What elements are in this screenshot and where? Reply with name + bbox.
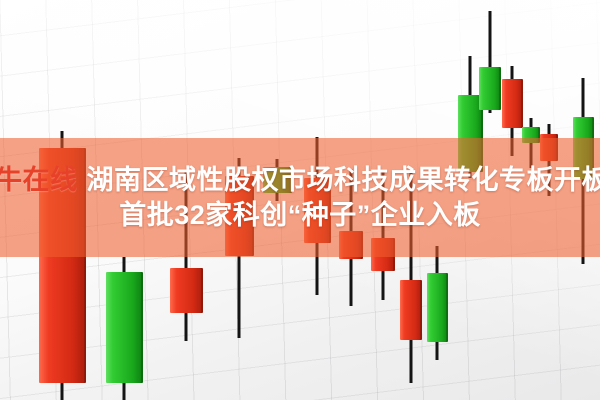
candle-body	[106, 272, 143, 383]
headline-line-1: 牛在线 湖南区域性股权市场科技成果转化专板开板	[0, 165, 600, 195]
candle-body	[427, 273, 448, 342]
candle-body	[479, 67, 501, 110]
candle-body	[400, 280, 422, 340]
brand-tag: 牛在线	[0, 165, 78, 195]
candlestick-banner-image: 牛在线 湖南区域性股权市场科技成果转化专板开板 首批32家科创“种子”企业入板	[0, 0, 600, 400]
headline-title-secondary: 首批32家科创“种子”企业入板	[119, 200, 481, 230]
candle-body	[170, 268, 203, 313]
candle-body	[502, 79, 523, 128]
headline-title-primary: 湖南区域性股权市场科技成果转化专板开板	[87, 165, 600, 195]
headline-block: 牛在线 湖南区域性股权市场科技成果转化专板开板 首批32家科创“种子”企业入板	[0, 138, 600, 257]
